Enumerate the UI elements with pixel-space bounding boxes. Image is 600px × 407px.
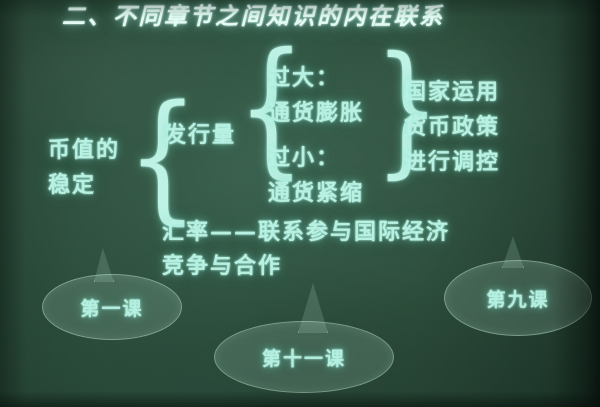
branch1-sub1-line1: 过大：	[268, 68, 340, 90]
blackboard-canvas: 二、不同章节之间知识的内在联系 币值的 稳定 { 发行量 { 过大： 通货膨胀 …	[0, 0, 600, 407]
callout-lesson-1[interactable]: 第一课	[42, 248, 182, 340]
callout-label: 第一课	[43, 275, 181, 339]
branch1-sub2-line1: 过小：	[268, 148, 340, 170]
branch1-result-line3: 进行调控	[404, 152, 500, 174]
branch1-sub2-line2: 通货紧缩	[268, 183, 364, 205]
branch2-line1: 汇率——联系参与国际经济	[162, 222, 450, 244]
outer-brace: {	[127, 88, 199, 228]
root-label-line1: 币值的	[48, 140, 120, 162]
root-label-line2: 稳定	[48, 175, 96, 197]
callout-lesson-11[interactable]: 第十一课	[214, 283, 394, 393]
callout-lesson-9[interactable]: 第九课	[444, 236, 592, 336]
callout-label: 第九课	[445, 261, 591, 335]
callout-bubble: 第十一课	[214, 321, 394, 393]
callout-bubble: 第九课	[444, 260, 592, 336]
callout-label: 第十一课	[215, 322, 393, 392]
branch1-result-line2: 货币政策	[404, 117, 500, 139]
branch1-label: 发行量	[164, 125, 236, 147]
branch1-result-line1: 国家运用	[404, 82, 500, 104]
branch1-sub1-line2: 通货膨胀	[268, 103, 364, 125]
callout-bubble: 第一课	[42, 274, 182, 340]
